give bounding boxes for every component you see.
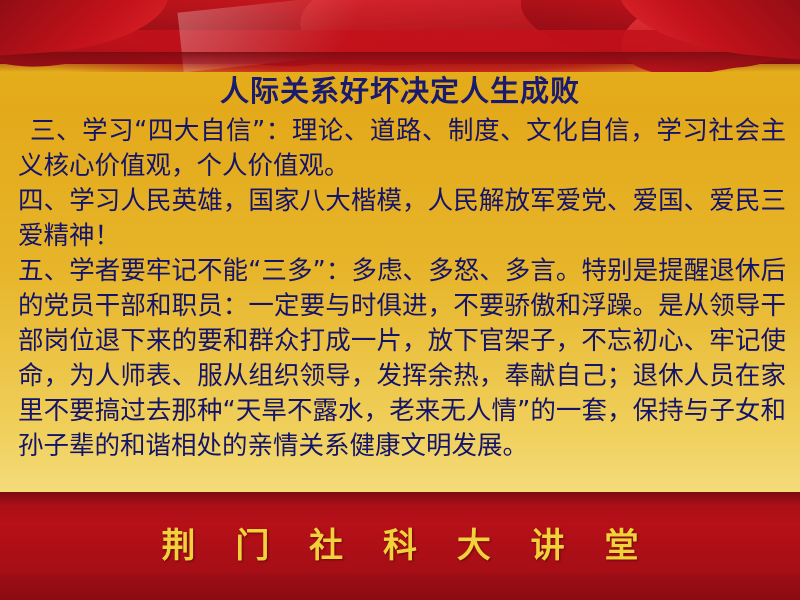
paragraph-item: 五、学者要牢记不能“三多”：多虑、多怒、多言。特别是提醒退休后的党员干部和职员：… xyxy=(0,254,800,464)
paragraph-item: 三、学习“四大自信”：理论、道路、制度、文化自信，学习社会主义核心价值观，个人价… xyxy=(0,114,800,184)
slide-body: 人际关系好坏决定人生成败 三、学习“四大自信”：理论、道路、制度、文化自信，学习… xyxy=(0,60,800,490)
paragraph-item: 四、学习人民英雄，国家八大楷模，人民解放军爱党、爱国、爱民三爱精神！ xyxy=(0,184,800,254)
slide-canvas: 人际关系好坏决定人生成败 三、学习“四大自信”：理论、道路、制度、文化自信，学习… xyxy=(0,0,800,600)
page-title: 人际关系好坏决定人生成败 xyxy=(0,60,800,114)
footer-top-shadow xyxy=(0,492,800,506)
footer-bottom-strip xyxy=(0,574,800,600)
footer-banner: 荆 门 社 科 大 讲 堂 xyxy=(0,492,800,600)
footer-title: 荆 门 社 科 大 讲 堂 xyxy=(0,518,800,567)
